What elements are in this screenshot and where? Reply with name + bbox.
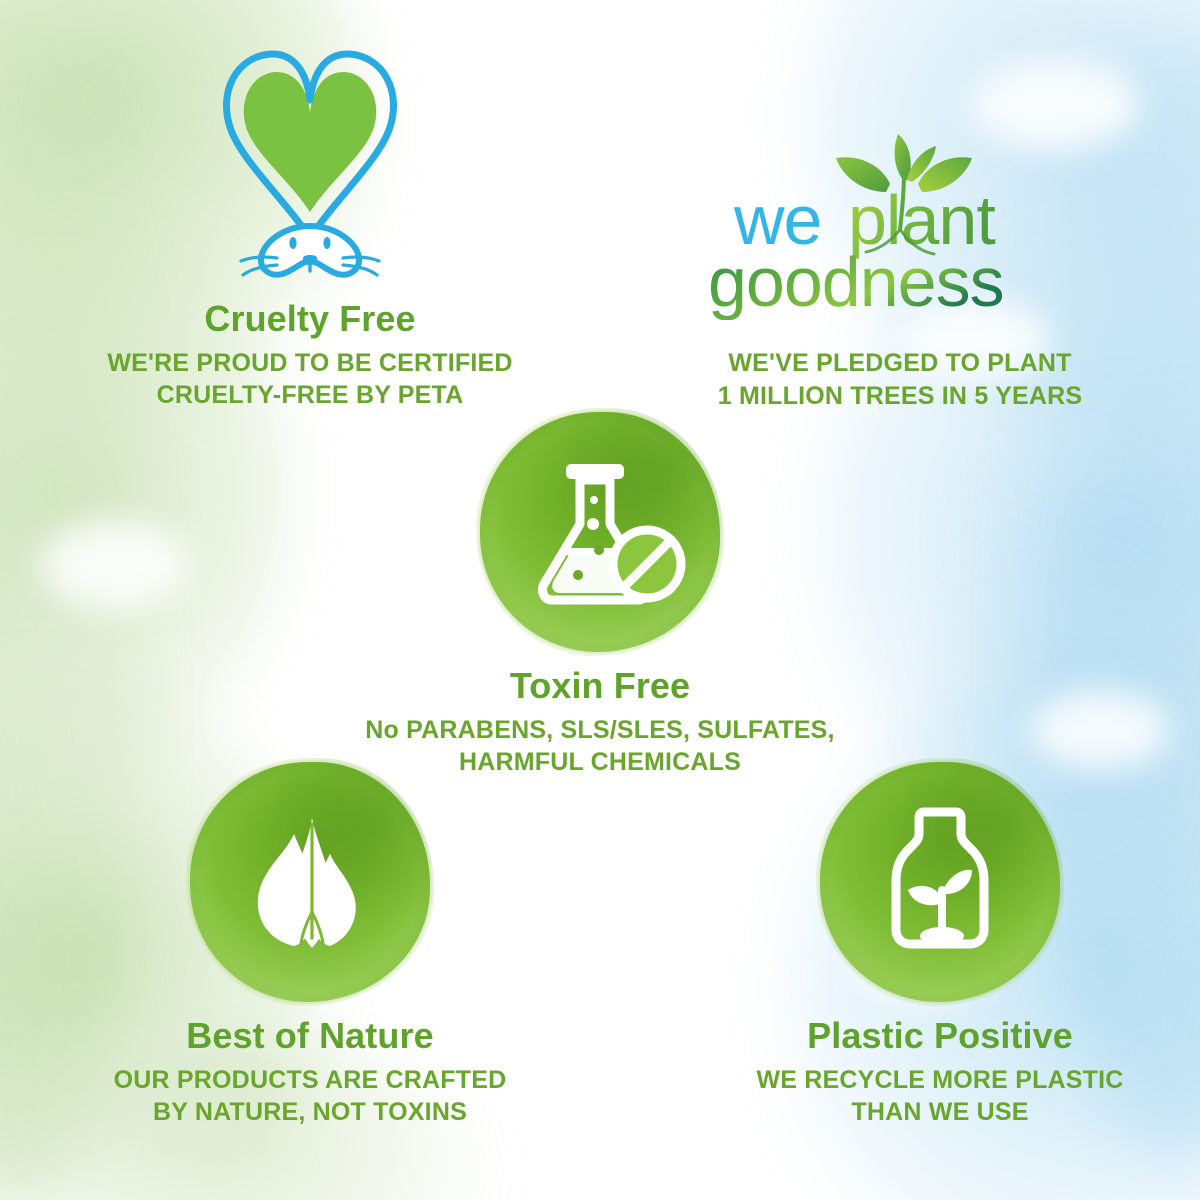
badge-icon-disc [820,762,1060,1002]
badge-toxin-free: Toxin Free No PARABENS, SLS/SLES, SULFAT… [320,412,880,779]
cloud-shape [40,520,190,610]
badge-plastic-positive: Plastic Positive WE RECYCLE MORE PLASTIC… [690,762,1190,1129]
brand-values-infographic: Cruelty Free WE'RE PROUD TO BE CERTIFIED… [0,0,1200,1200]
badge-subtitle: WE'VE PLEDGED TO PLANT 1 MILLION TREES I… [718,347,1083,412]
badge-cruelty-free: Cruelty Free WE'RE PROUD TO BE CERTIFIED… [30,30,590,412]
badge-title: Toxin Free [510,666,690,706]
svg-text:goodness: goodness [708,243,1004,320]
cloud-shape [1030,690,1170,770]
badge-icon-disc [190,762,430,1002]
badge-subtitle: WE RECYCLE MORE PLASTIC THAN WE USE [756,1064,1123,1129]
badge-subtitle: WE'RE PROUD TO BE CERTIFIED CRUELTY-FREE… [107,347,512,412]
leaf-trio-icon [190,762,430,1002]
we-plant-goodness-logo: we plant goodness [690,120,1110,325]
badge-icon-disc [480,412,720,652]
badge-title: Plastic Positive [807,1016,1073,1056]
badge-title: Best of Nature [186,1016,433,1056]
badge-title: Cruelty Free [204,299,415,339]
cruelty-free-bunny-logo [185,30,435,285]
bottle-sprout-icon [820,762,1060,1002]
badge-subtitle: OUR PRODUCTS ARE CRAFTED BY NATURE, NOT … [114,1064,507,1129]
flask-no-toxins-icon [480,412,720,652]
badge-best-of-nature: Best of Nature OUR PRODUCTS ARE CRAFTED … [30,762,590,1129]
badge-we-plant-goodness: we plant goodness WE'VE PLEDGED TO PLANT… [620,120,1180,412]
